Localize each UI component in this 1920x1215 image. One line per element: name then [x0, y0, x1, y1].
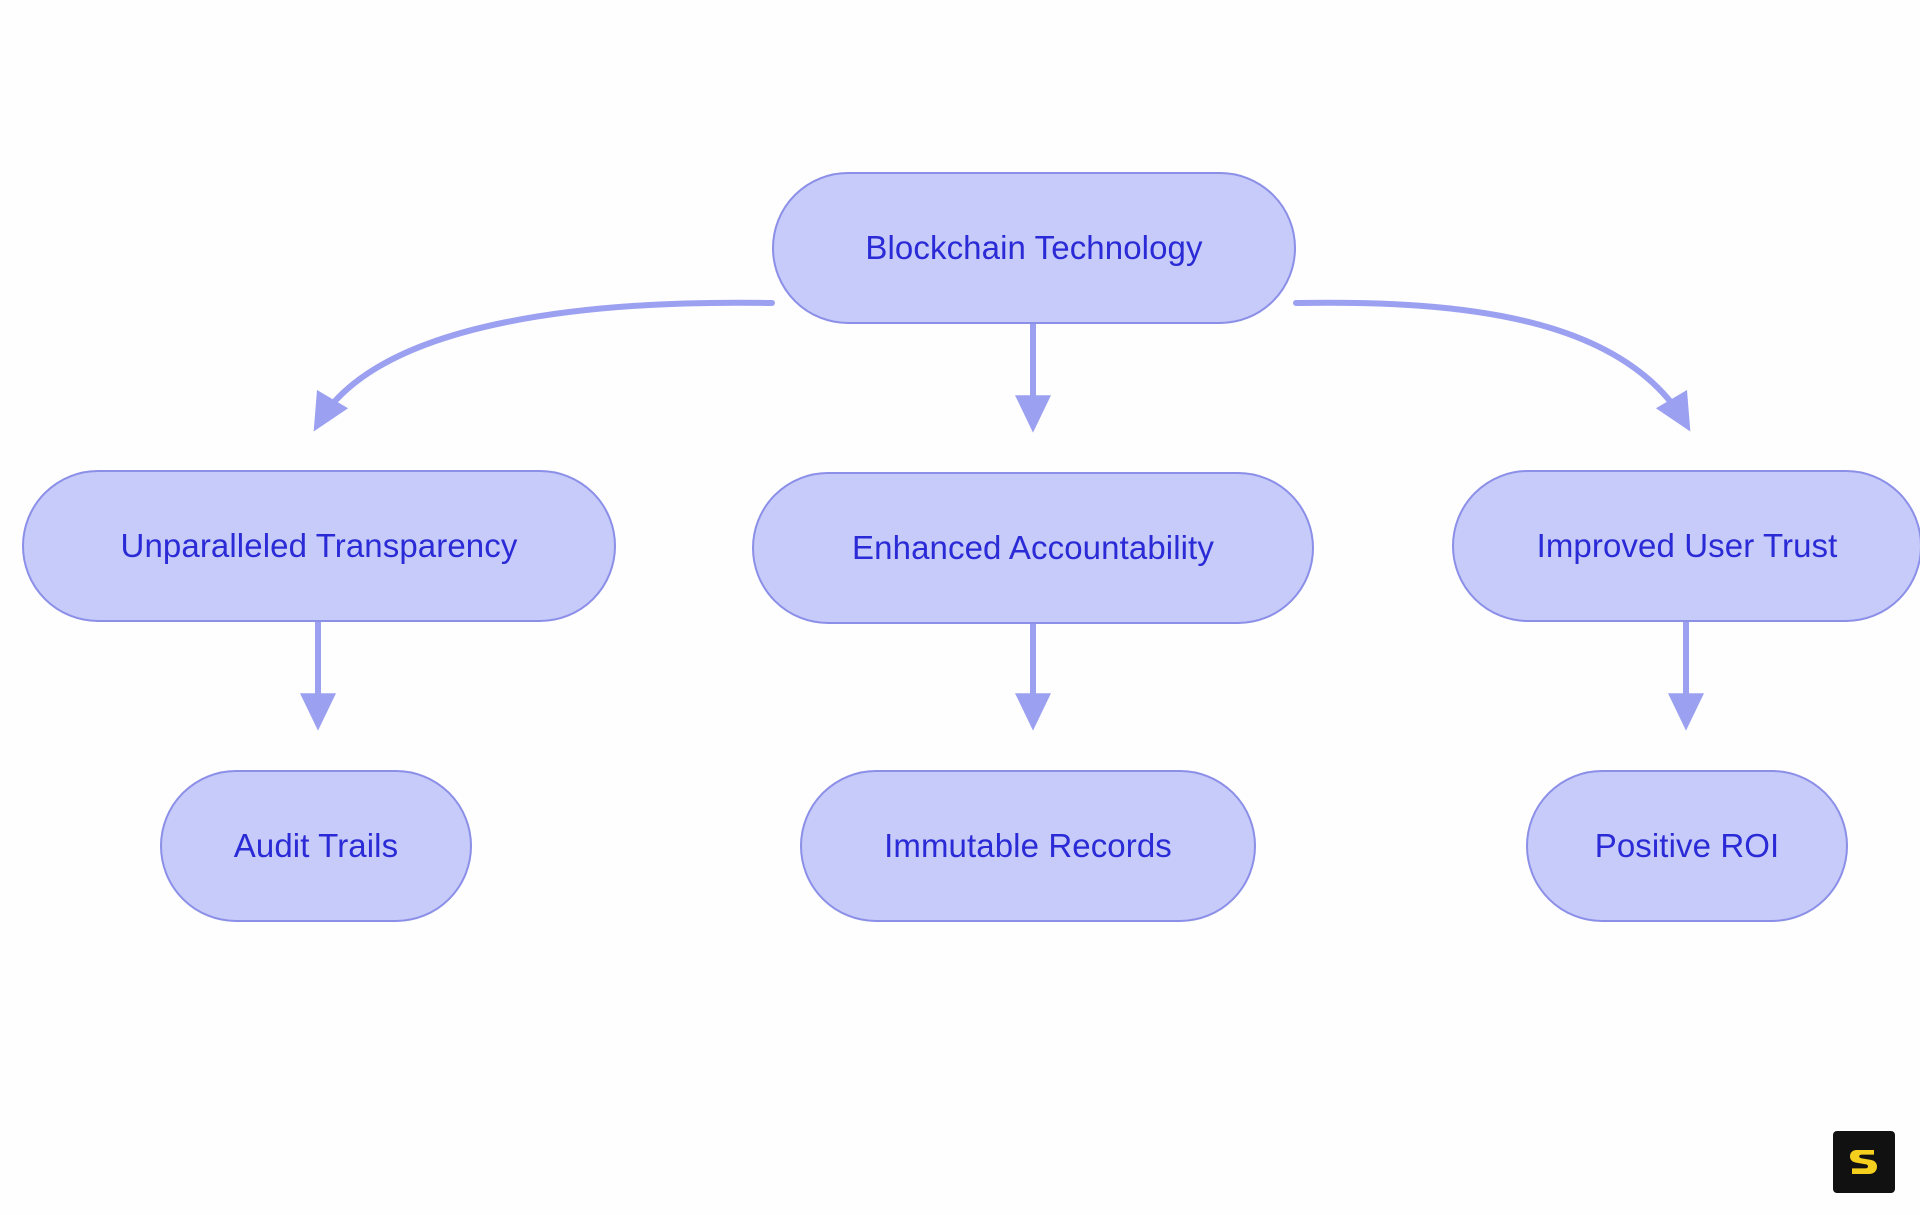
diagram-canvas: Blockchain Technology Unparalleled Trans…: [0, 0, 1920, 1215]
edge-root-to-transparency: [318, 303, 772, 424]
node-label: Audit Trails: [234, 827, 398, 865]
edge-root-to-trust: [1296, 303, 1686, 424]
s-logo-icon: [1833, 1131, 1895, 1193]
node-blockchain-technology[interactable]: Blockchain Technology: [772, 172, 1296, 324]
node-label: Positive ROI: [1595, 827, 1780, 865]
node-improved-user-trust[interactable]: Improved User Trust: [1452, 470, 1920, 622]
s-logo-glyph: [1844, 1142, 1884, 1182]
node-label: Blockchain Technology: [865, 229, 1202, 267]
node-immutable-records[interactable]: Immutable Records: [800, 770, 1256, 922]
node-enhanced-accountability[interactable]: Enhanced Accountability: [752, 472, 1314, 624]
node-label: Enhanced Accountability: [852, 529, 1214, 567]
node-unparalleled-transparency[interactable]: Unparalleled Transparency: [22, 470, 616, 622]
node-label: Improved User Trust: [1537, 527, 1838, 565]
node-positive-roi[interactable]: Positive ROI: [1526, 770, 1848, 922]
node-label: Immutable Records: [884, 827, 1172, 865]
node-label: Unparalleled Transparency: [121, 527, 518, 565]
node-audit-trails[interactable]: Audit Trails: [160, 770, 472, 922]
